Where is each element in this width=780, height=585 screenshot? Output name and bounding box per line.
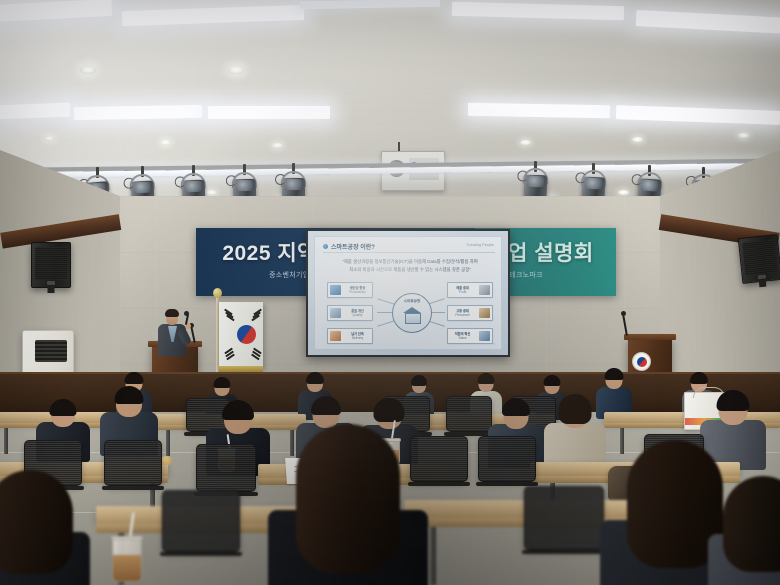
desk-leg (4, 428, 8, 454)
two-people-icon (479, 331, 490, 341)
attendee-hair (306, 372, 324, 384)
slide-title-row: 스마트공장 이란? (323, 242, 375, 251)
attendee-hair (125, 372, 144, 384)
attendee-hair (559, 394, 592, 424)
diagram-hub: 스마트공장 (392, 293, 432, 333)
diagram-box-profit: 매출 증대 Profit (447, 282, 493, 298)
attendee-hair (222, 400, 254, 420)
ceiling-downlight (228, 66, 244, 74)
people-group-icon (479, 308, 490, 318)
diagram-box-text: 매출 증대 Profit (448, 286, 477, 295)
attendee-hair (115, 386, 144, 404)
spotlight-lens-icon (585, 178, 603, 190)
chair (104, 440, 162, 486)
attendee (700, 390, 766, 466)
cup-contents (381, 450, 399, 465)
chair-back (104, 440, 162, 486)
ceiling-led-panel (208, 106, 330, 119)
wall-speaker-left (31, 242, 71, 288)
chair-back (644, 434, 704, 482)
chair-rail (642, 482, 706, 486)
emblem-taeguk-icon (637, 357, 647, 367)
notebook-text-line (334, 466, 358, 467)
chair-back (196, 444, 256, 492)
slide-quote-line-1: "제품 생산과정을 정보통신기술(ICT)을 이용해 Data를 수집/분석/활… (329, 258, 491, 266)
diagram-box-label-en: Quality (343, 313, 372, 317)
notebook-text-line (294, 466, 318, 467)
ceiling-downlight (520, 140, 531, 145)
spotlight-lens-icon (134, 182, 152, 194)
attendee-hair (50, 399, 77, 416)
slide-quote: "제품 생산과정을 정보통신기술(ICT)을 이용해 Data를 수집/분석/활… (329, 258, 491, 273)
chair-rail (408, 482, 470, 486)
diagram-hub-label: 스마트공장 (393, 299, 431, 304)
ceiling-downlight (272, 143, 283, 148)
wall-speaker-right (738, 234, 780, 284)
factory-icon (403, 307, 421, 323)
spotlight-lens-icon (185, 181, 202, 193)
chair-back (24, 440, 82, 486)
desk-leg (550, 483, 555, 519)
ac-vent-grill (35, 340, 67, 362)
ceiling-downlight (618, 190, 629, 195)
attendee (296, 396, 356, 466)
chair-back (410, 436, 468, 482)
chair-rail (476, 482, 538, 486)
presentation-slide: 스마트공장 이란? Creating People "제품 생산과정을 정보통신… (314, 236, 502, 350)
slide-bullet-icon (323, 244, 328, 249)
desk-leg (166, 430, 170, 456)
notebook-text-line (334, 471, 352, 472)
diagram-box-text: 납기 단축 Delivery (343, 332, 372, 341)
attendee-hair (311, 396, 341, 415)
spotlight-lens-icon (285, 179, 302, 190)
diagram-box-personnel: 고용 증대 Personnel (447, 305, 493, 321)
chair (644, 434, 704, 482)
ceiling-led-panel (468, 103, 610, 118)
speaker-grill (35, 247, 67, 280)
floor-seam (0, 512, 780, 513)
attendee-hair (478, 373, 495, 384)
attendee-hair (544, 375, 561, 386)
projection-screen: 스마트공장 이란? Creating People "제품 생산과정을 정보통신… (308, 231, 508, 355)
speaker-mount (48, 286, 55, 293)
ceiling-downlight (206, 190, 217, 195)
presenter-hair (165, 309, 179, 317)
diagram-box-label-en: Productivity (343, 290, 372, 294)
speaker-mount (759, 280, 767, 288)
diagram-box-label-en: Sales (448, 336, 477, 340)
desk-leg (716, 483, 721, 519)
ceiling-downlight (632, 137, 643, 142)
chair (410, 436, 468, 482)
chair (446, 396, 492, 432)
slide-quote-line-2: 최소의 비용과 시간으로 제품을 생산할 수 있는 시스템을 갖춘 공장" (329, 266, 491, 274)
slide-divider (323, 252, 495, 253)
diagram-box-label-en: Delivery (343, 336, 372, 340)
desk-leg (620, 428, 624, 454)
diagram-box-label-en: Personnel (448, 313, 477, 317)
taeguk-symbol-icon (237, 325, 256, 344)
diagram-box-quality: 품질 개선 Quality (327, 305, 373, 321)
attendee-hair (717, 390, 750, 411)
chair-back (478, 436, 536, 482)
ceiling-downlight (44, 136, 55, 141)
slide-title: 스마트공장 이란? (331, 242, 375, 251)
notebook-text-line (294, 471, 314, 472)
attendee (544, 394, 606, 466)
ceiling-downlight (738, 133, 749, 138)
seminar-room-photo: 2025 지역특화산업육성 지역 사업 설명회 중소벤처기업부 강원특별자치도 … (0, 0, 780, 585)
monitor-icon (330, 285, 341, 295)
ceiling-downlight (160, 140, 171, 145)
ceiling-led-panel (0, 103, 70, 120)
attendee-hair (605, 368, 624, 380)
ceiling-downlight (80, 66, 96, 74)
spotlight-lens-icon (236, 180, 253, 191)
chair (196, 444, 256, 492)
diagram-box-text: 생산성 향상 Productivity (343, 286, 372, 295)
diagram-box-text: 직원의 혁신 Sales (448, 332, 477, 341)
notebook-spine (325, 458, 327, 484)
attendee-hair (214, 377, 231, 388)
chair (478, 436, 536, 482)
government-emblem-icon (632, 352, 651, 371)
slide-corner-logo: Creating People (467, 243, 494, 247)
podium-right-top (624, 334, 676, 340)
slide-page-number: 5 (493, 342, 495, 346)
spotlight-lens-icon (641, 179, 659, 191)
diagram-box-sales: 직원의 혁신 Sales (447, 328, 493, 344)
spotlight-lens-icon (527, 176, 544, 188)
smart-factory-diagram: 스마트공장 생산성 향상 Productivity (325, 281, 495, 343)
podium-right-microphone-head (621, 311, 626, 316)
attendee-hair (690, 372, 708, 384)
handheld-microphone-head (184, 311, 189, 316)
chair-rail (102, 486, 164, 490)
flag-pole-finial (213, 288, 222, 298)
truck-icon (330, 331, 341, 341)
diagram-box-delivery: 납기 단축 Delivery (327, 328, 373, 344)
spotlight-cable (275, 174, 286, 185)
diagram-spoke (377, 320, 394, 326)
diagram-box-text: 고용 증대 Personnel (448, 309, 477, 318)
chair (24, 440, 82, 486)
clipboard-icon (330, 308, 341, 318)
open-notebook (286, 458, 366, 484)
diagram-box-label-en: Profit (448, 290, 477, 294)
ceiling-led-panel (74, 105, 202, 120)
bar-chart-icon (479, 285, 490, 295)
desk-leg (2, 483, 7, 519)
desk-leg (290, 430, 294, 456)
diagram-box-productivity: 생산성 향상 Productivity (327, 282, 373, 298)
cup-lid (379, 438, 401, 442)
attendee-hair (411, 375, 427, 386)
chair-rail (22, 486, 84, 490)
attendee-hair (374, 398, 405, 422)
chair-back (446, 396, 492, 432)
iced-coffee-cup (380, 440, 400, 466)
speaker-grill (742, 239, 777, 275)
factory-body-shape (405, 313, 421, 324)
diagram-box-text: 품질 개선 Quality (343, 309, 372, 318)
chair-rail (194, 492, 258, 496)
attendee-hair (502, 398, 530, 416)
speaker-badge (47, 281, 55, 285)
